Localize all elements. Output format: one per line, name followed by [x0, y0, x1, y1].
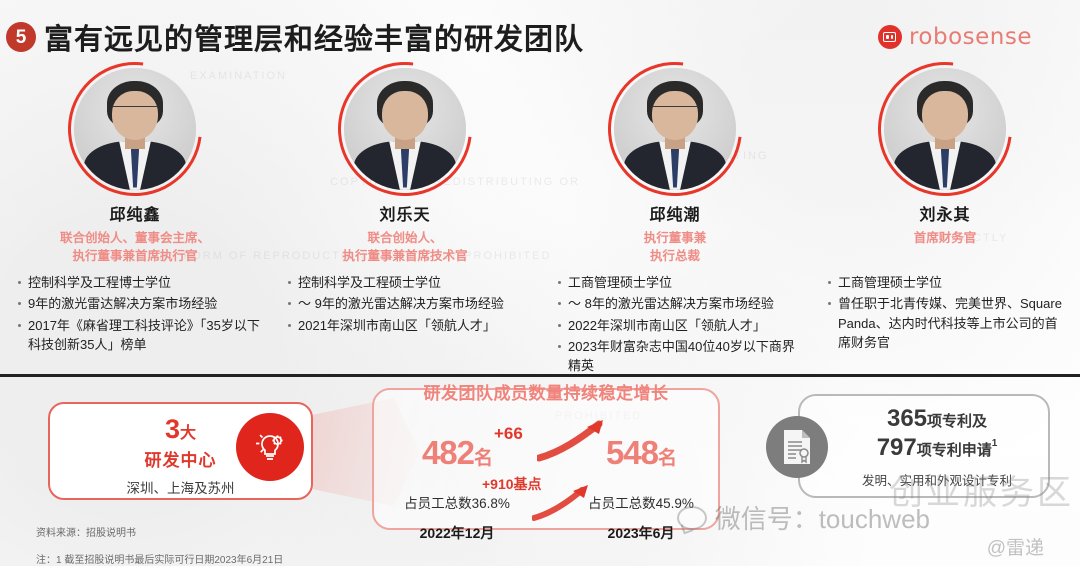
- section-number-badge: 5: [6, 22, 36, 52]
- leader-name: 刘乐天: [280, 201, 530, 225]
- patents-pending-label: 项专利申请: [917, 442, 992, 459]
- growth-right-value: 548名: [566, 434, 716, 472]
- avatar: [74, 68, 196, 190]
- avatar-ring: [581, 35, 769, 223]
- page-title: 富有远见的管理层和经验丰富的研发团队: [44, 16, 584, 58]
- leader-role: 联合创始人、董事会主席、 执行董事兼首席执行官: [10, 229, 260, 265]
- list-item: 2023年财富杂志中国40位40岁以下商界精英: [556, 337, 800, 375]
- leader-name: 邱纯鑫: [10, 201, 260, 225]
- leader-bullets: 控制科学及工程硕士学位 ～ 9年的激光雷达解决方案市场经验 2021年深圳市南山…: [280, 273, 530, 335]
- leader-role-line: 执行董事兼首席执行官: [10, 247, 260, 265]
- leader-bullets: 工商管理硕士学位 曾任职于北青传媒、完美世界、Square Panda、达内时代…: [820, 273, 1070, 352]
- document-certificate-icon: [766, 416, 828, 478]
- patents-line-1: 365项专利及: [800, 405, 1048, 433]
- avatar: [344, 68, 466, 190]
- headcount-growth-card: 研发团队成员数量持续稳定增长 +66 +910基点 482名 占员工总数36.8…: [372, 388, 720, 530]
- leader-role-line: 联合创始人、董事会主席、: [10, 229, 260, 247]
- patents-granted-count: 365: [887, 405, 927, 432]
- leader-role-line: 执行董事兼: [550, 229, 800, 247]
- list-item: 2021年深圳市南山区「领航人才」: [286, 316, 530, 335]
- list-item: 工商管理硕士学位: [556, 273, 800, 292]
- leader-name: 刘永其: [820, 201, 1070, 225]
- leader-role: 首席财务官: [820, 229, 1070, 247]
- leader-role-line: 执行总裁: [550, 247, 800, 265]
- list-item: 曾任职于北青传媒、完美世界、Square Panda、达内时代科技等上市公司的首…: [826, 294, 1070, 352]
- leader-role: 执行董事兼 执行总裁: [550, 229, 800, 265]
- robot-face-icon: [878, 25, 902, 49]
- list-item: 控制科学及工程博士学位: [16, 273, 260, 292]
- list-item: 工商管理硕士学位: [826, 273, 1070, 292]
- leader-bullets: 工商管理硕士学位 ～ 8年的激光雷达解决方案市场经验 2022年深圳市南山区「领…: [550, 273, 800, 375]
- source-footnote: 资料来源：招股说明书: [36, 524, 136, 539]
- avatar: [614, 68, 736, 190]
- list-item: ～ 9年的激光雷达解决方案市场经验: [286, 294, 530, 313]
- leader-name: 邱纯潮: [550, 201, 800, 225]
- list-item: 2017年《麻省理工科技评论》「35岁以下科技创新35人」榜单: [16, 316, 260, 354]
- leader-card: 邱纯潮 执行董事兼 执行总裁 工商管理硕士学位 ～ 8年的激光雷达解决方案市场经…: [540, 60, 810, 370]
- watermark-handle: @雷递: [987, 533, 1044, 560]
- leader-card: 刘永其 首席财务官 工商管理硕士学位 曾任职于北青传媒、完美世界、Square …: [810, 60, 1080, 370]
- avatar-ring: [851, 35, 1039, 223]
- growth-left-date: 2022年12月: [382, 523, 532, 543]
- rnd-count-unit: 大: [180, 425, 196, 442]
- growth-left-value: 482名: [382, 434, 532, 472]
- brand-logo: robosense: [878, 24, 1032, 50]
- disclaimer-footnote: 注：1 截至招股说明书最后实际可行日期2023年6月21日: [36, 551, 283, 566]
- section-divider: [0, 374, 1080, 377]
- list-item: 2022年深圳市南山区「领航人才」: [556, 316, 800, 335]
- leader-card: 刘乐天 联合创始人、 执行董事兼首席技术官 控制科学及工程硕士学位 ～ 9年的激…: [270, 60, 540, 370]
- lightbulb-gear-icon: [236, 413, 304, 481]
- wechat-icon: [677, 506, 707, 530]
- growth-left-share: 占员工总数36.8%: [382, 492, 532, 512]
- leader-role-line: 执行董事兼首席技术官: [280, 247, 530, 265]
- patents-footnote-marker: 1: [992, 438, 998, 449]
- leader-card: 邱纯鑫 联合创始人、董事会主席、 执行董事兼首席执行官 控制科学及工程博士学位 …: [0, 60, 270, 370]
- avatar-ring: [311, 35, 499, 223]
- avatar: [884, 68, 1006, 190]
- patents-line-2: 797项专利申请1: [800, 434, 1048, 462]
- leader-bullets: 控制科学及工程博士学位 9年的激光雷达解决方案市场经验 2017年《麻省理工科技…: [10, 273, 260, 354]
- watermark-wechat: 微信号：touchweb: [677, 499, 930, 536]
- list-item: ～ 8年的激光雷达解决方案市场经验: [556, 294, 800, 313]
- page-header: 5 富有远见的管理层和经验丰富的研发团队 robosense: [0, 8, 1080, 60]
- list-item: 9年的激光雷达解决方案市场经验: [16, 294, 260, 313]
- patents-pending-count: 797: [877, 434, 917, 461]
- leader-role: 联合创始人、 执行董事兼首席技术官: [280, 229, 530, 265]
- brand-logo-text: robosense: [909, 24, 1032, 50]
- rnd-count-value: 3: [165, 414, 180, 444]
- growth-left-column: 482名 占员工总数36.8% 2022年12月: [382, 434, 532, 543]
- leadership-row: 邱纯鑫 联合创始人、董事会主席、 执行董事兼首席执行官 控制科学及工程博士学位 …: [0, 60, 1080, 370]
- watermark-wechat-text: 微信号：touchweb: [715, 499, 930, 536]
- avatar-ring: [41, 35, 229, 223]
- list-item: 控制科学及工程硕士学位: [286, 273, 530, 292]
- growth-title: 研发团队成员数量持续稳定增长: [374, 379, 718, 404]
- leader-role-line: 首席财务官: [820, 229, 1070, 247]
- leader-role-line: 联合创始人、: [280, 229, 530, 247]
- patents-granted-label: 项专利及: [927, 413, 987, 430]
